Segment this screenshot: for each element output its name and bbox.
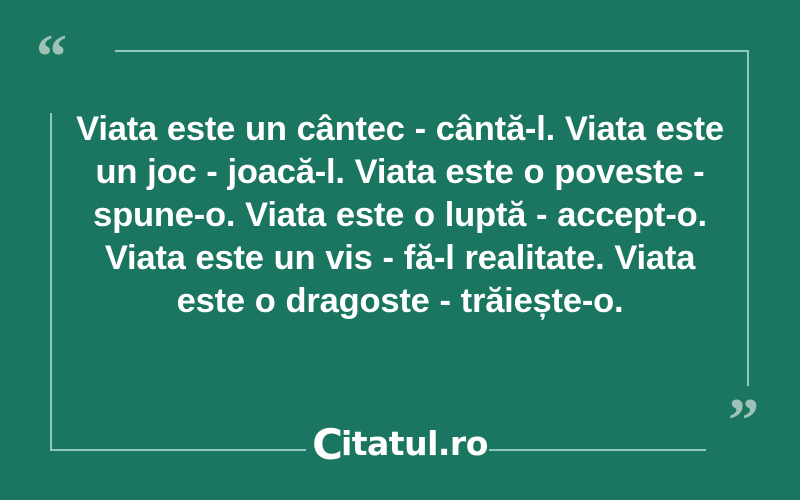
quote-card: “ ” Viata este un cântec - cântă-l. Viat… bbox=[0, 0, 800, 500]
site-logo[interactable]: Citatul.ro bbox=[0, 424, 800, 465]
quote-text: Viata este un cântec - cântă-l. Viata es… bbox=[72, 108, 728, 323]
frame-line-right bbox=[747, 50, 749, 386]
opening-quote-icon: “ bbox=[36, 26, 68, 88]
frame-line-top bbox=[115, 50, 749, 52]
site-logo-text[interactable]: Citatul.ro bbox=[312, 424, 488, 465]
site-logo-rest: itatul.ro bbox=[341, 424, 488, 463]
site-logo-initial: C bbox=[312, 420, 341, 469]
frame-line-left bbox=[50, 113, 52, 451]
